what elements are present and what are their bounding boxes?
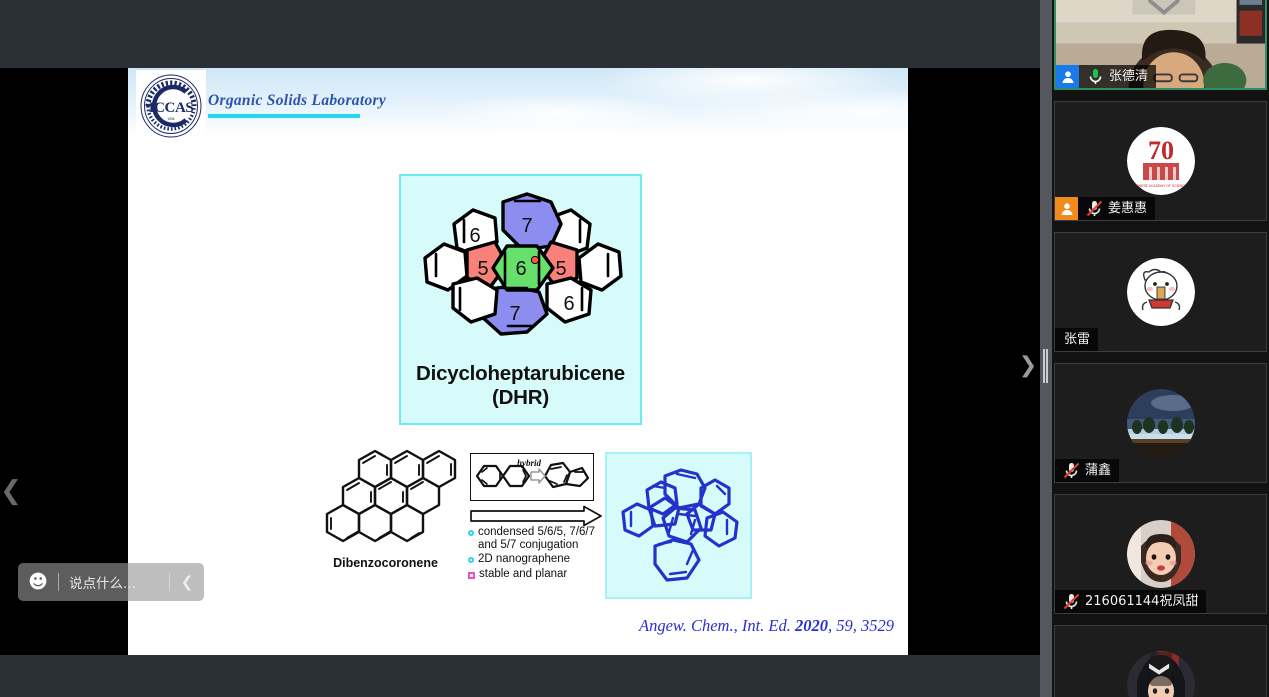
participant-name: 姜惠惠 (1108, 202, 1147, 215)
person-icon (1056, 65, 1079, 88)
ring-label-6-upper-left: 6 (469, 225, 480, 247)
dhr-name-line1: Dicycloheptarubicene (416, 362, 625, 385)
citation-rest: , 59, 3529 (828, 616, 894, 635)
participant-rail[interactable]: 张德清 70 CHINESE ACADEMY OF SCIENCES (1052, 0, 1269, 697)
iccas-logo: ICCAS 1956 (136, 70, 206, 142)
ring-label-5-right: 5 (555, 258, 566, 280)
microphone-icon (1086, 67, 1105, 86)
product-structure-panel (605, 452, 752, 599)
svg-text:70: 70 (1148, 136, 1174, 165)
dhr-name-line2: (DHR) (401, 386, 640, 410)
svg-text:1956: 1956 (167, 117, 174, 121)
microphone-muted-icon (1062, 461, 1081, 480)
participant-name: 张德清 (1109, 70, 1148, 83)
ring-label-6-lower-right: 6 (563, 293, 574, 315)
slide-header-title: Organic Solids Laboratory (208, 92, 386, 110)
chevron-left-icon[interactable]: ❮ (170, 563, 204, 601)
avatar: 70 CHINESE ACADEMY OF SCIENCES (1127, 127, 1195, 195)
comment-input[interactable]: 说点什么... (59, 572, 169, 592)
participant-tile[interactable]: 蒲鑫 (1054, 363, 1267, 483)
dhr-compound-name: Dicycloheptarubicene (DHR) (401, 362, 640, 409)
feature-bullet-list: condensed 5/6/5, 7/6/7 and 5/7 conjugati… (468, 526, 608, 582)
participant-name-bar: 姜惠惠 (1055, 197, 1155, 220)
hybrid-box: hybrid (470, 453, 594, 501)
dhr-skeleton-blue-icon (607, 454, 750, 597)
participant-tile[interactable]: 张德清 (1054, 0, 1267, 90)
participant-name-bar: 张雷 (1055, 328, 1098, 351)
dibenzocoronene-label: Dibenzocoronene (313, 556, 458, 570)
dicycloheptarubicene-ring-map-icon: 6 7 5 6 5 7 6 (407, 180, 637, 360)
splitter-grip[interactable] (1043, 349, 1049, 383)
participant-name-bar: 蒲鑫 (1055, 459, 1119, 482)
shared-slide: ICCAS 1956 Organic Solids Laboratory (128, 68, 908, 655)
chevron-down-icon[interactable]: ❯ (1150, 652, 1172, 686)
ring-label-7-upper: 7 (521, 215, 532, 237)
bullet-circle-icon (468, 557, 474, 563)
dhr-panel: 6 7 5 6 5 7 6 Dicycloheptarubicene (DHR) (399, 174, 642, 425)
participant-name-bar: 张德清 (1056, 65, 1156, 88)
bullet-circle-icon (468, 530, 474, 536)
expand-panel-chevron[interactable]: ❯ (1017, 348, 1039, 382)
microphone-muted-icon (1062, 592, 1081, 611)
participant-tile[interactable]: 216061144祝凤甜 (1054, 494, 1267, 614)
previous-slide-chevron[interactable]: ❮ (0, 468, 22, 514)
participant-name: 蒲鑫 (1085, 464, 1111, 477)
top-chrome-bar (0, 0, 1040, 68)
participant-name: 张雷 (1064, 333, 1090, 346)
ring-label-6-center: 6 (515, 258, 526, 280)
ring-label-7-lower: 7 (509, 303, 520, 325)
citation-year: 2020 (795, 616, 828, 635)
ring-label-5-left: 5 (477, 258, 488, 280)
iccas-logo-icon: ICCAS 1956 (138, 73, 204, 139)
bullet-text: condensed 5/6/5, 7/6/7 and 5/7 conjugati… (478, 526, 608, 552)
dibenzocoronene-block: Dibenzocoronene (313, 448, 458, 578)
slide-header-underline (208, 114, 360, 118)
comment-input-bar[interactable]: ☻ 说点什么... ❮ (18, 563, 204, 601)
participant-name: 216061144祝凤甜 (1085, 595, 1198, 608)
citation: Angew. Chem., Int. Ed. 2020, 59, 3529 (128, 616, 894, 636)
participant-tile[interactable]: 张雷 (1054, 232, 1267, 352)
panel-splitter[interactable] (1040, 0, 1052, 697)
list-item: 2D nanographene (468, 553, 608, 566)
meeting-window: ICCAS 1956 Organic Solids Laboratory (0, 0, 1269, 697)
bullet-square-icon (468, 572, 475, 579)
list-item: condensed 5/6/5, 7/6/7 and 5/7 conjugati… (468, 526, 608, 552)
list-item: stable and planar (468, 568, 608, 581)
svg-text:CHINESE ACADEMY OF SCIENCES: CHINESE ACADEMY OF SCIENCES (1132, 184, 1189, 188)
avatar (1127, 258, 1195, 326)
bullet-text: 2D nanographene (478, 553, 570, 566)
bullet-text: stable and planar (479, 568, 567, 581)
hybrid-label: hybrid (517, 458, 541, 468)
svg-text:ICCAS: ICCAS (149, 100, 194, 116)
avatar (1127, 389, 1195, 457)
microphone-muted-icon (1085, 199, 1104, 218)
participant-tile[interactable]: 70 CHINESE ACADEMY OF SCIENCES (1054, 101, 1267, 221)
transformation-arrow-icon (470, 505, 602, 527)
smiley-icon[interactable]: ☻ (18, 563, 58, 601)
bottom-chrome-bar (0, 655, 1040, 697)
citation-journal: Angew. Chem., Int. Ed. (639, 616, 791, 635)
dibenzocoronene-structure-icon (313, 448, 458, 553)
participant-name-bar: 216061144祝凤甜 (1055, 590, 1206, 613)
person-icon (1055, 197, 1078, 220)
avatar (1127, 520, 1195, 588)
